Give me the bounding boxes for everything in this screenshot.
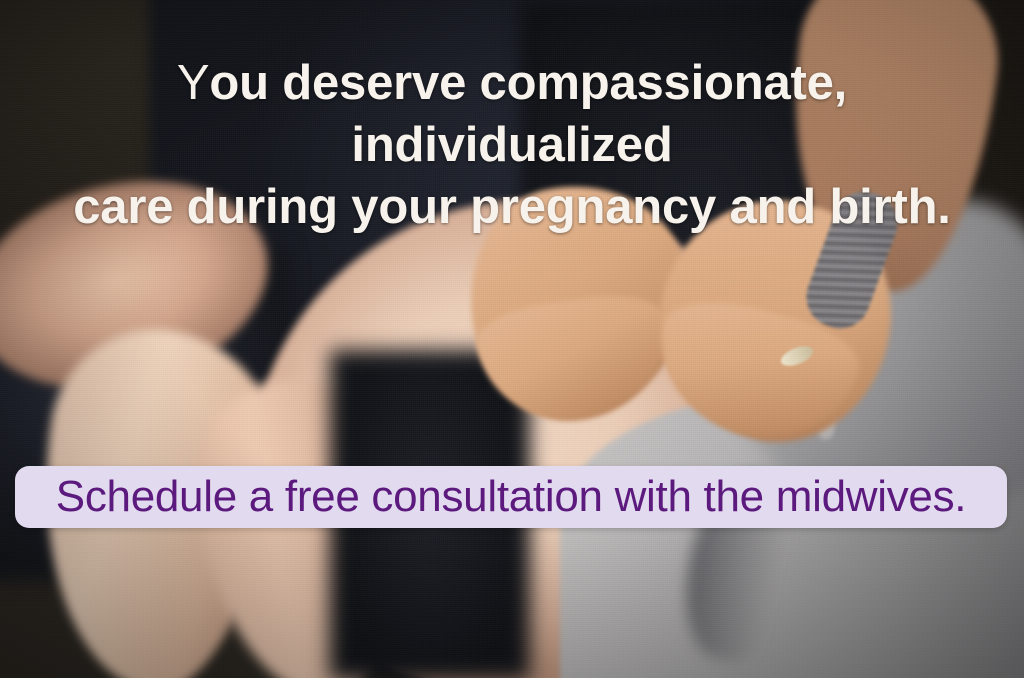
cta-schedule-consultation-button[interactable]: Schedule a free consultation with the mi… — [15, 466, 1007, 528]
headline-line-2: care during your pregnancy and birth. — [73, 180, 950, 234]
headline: You deserve compassionate, individualize… — [0, 52, 1024, 238]
headline-line-1: ou deserve compassionate, individualized — [209, 56, 847, 172]
promo-banner: You deserve compassionate, individualize… — [0, 0, 1024, 678]
headline-lead-character: Y — [177, 56, 209, 110]
cta-label: Schedule a free consultation with the mi… — [56, 473, 966, 521]
